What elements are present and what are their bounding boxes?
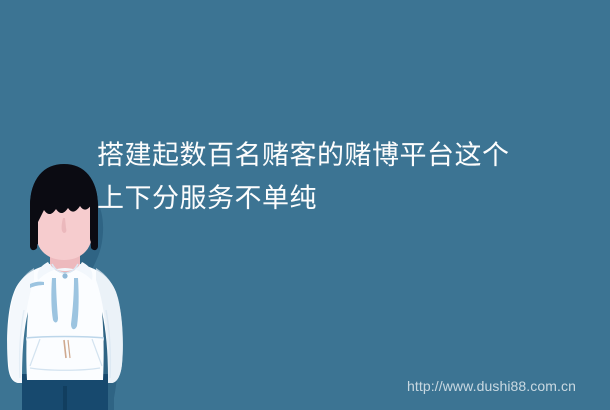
watermark-url: http://www.dushi88.com.cn: [407, 378, 576, 394]
headline-line-2: 上下分服务不单纯: [97, 177, 597, 220]
headline-line-1: 搭建起数百名赌客的赌博平台这个: [97, 134, 597, 177]
promo-banner: 搭建起数百名赌客的赌博平台这个 上下分服务不单纯 http://www.dush…: [0, 0, 610, 410]
headline: 搭建起数百名赌客的赌博平台这个 上下分服务不单纯: [97, 134, 597, 220]
hoodie-collar-dot: [62, 273, 67, 278]
